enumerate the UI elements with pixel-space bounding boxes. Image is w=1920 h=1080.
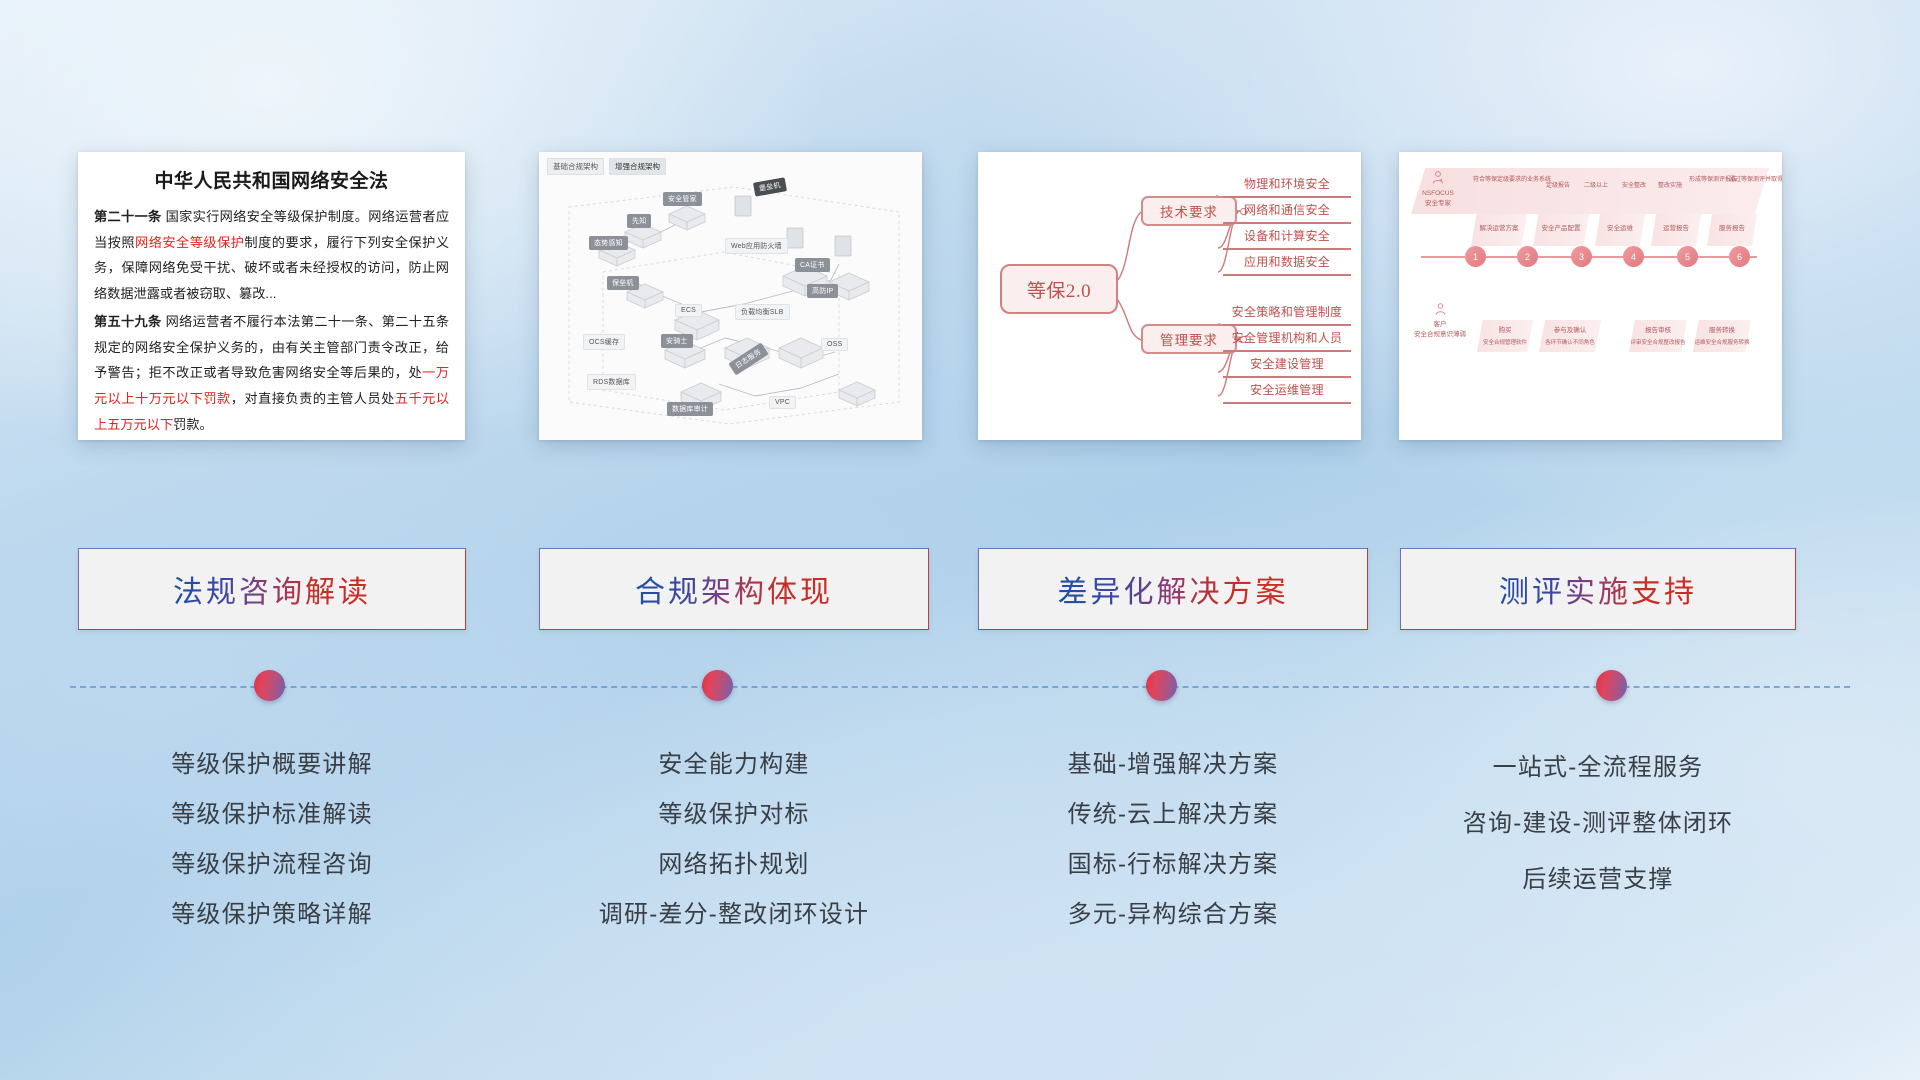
mindmap-leaf-network-comm: 网络和通信安全 <box>1223 200 1351 224</box>
phase-tag-2: 安全运维 <box>1595 224 1645 233</box>
mindmap-leaf-device-compute: 设备和计算安全 <box>1223 226 1351 250</box>
step-marker-1[interactable]: 1 <box>1465 246 1486 267</box>
ribbon-label-1: 定级报告 <box>1541 182 1575 191</box>
nsfocus-brand: NSFOCUS <box>1413 189 1463 198</box>
node-vpc: VPC <box>769 396 796 409</box>
architecture-canvas: 基础合规架构 增强合规架构 <box>539 152 922 440</box>
bottom-tag-title-3: 服务转换 <box>1693 326 1751 335</box>
mindmap-leaf-org-personnel: 安全管理机构和人员 <box>1223 328 1351 352</box>
law-article-59-label: 第五十九条 <box>94 314 162 329</box>
tab-button-regulation-consulting[interactable]: 法规咨询解读 <box>78 548 466 630</box>
timeline-dot-4[interactable] <box>1596 670 1627 701</box>
step-marker-4[interactable]: 4 <box>1623 246 1644 267</box>
mindmap-leaf-policy-system: 安全策略和管理制度 <box>1223 302 1351 326</box>
card-mindmap[interactable]: 等保2.0 技术要求 管理要求 物理和环境安全 网络和通信安全 设备和计算安全 … <box>978 152 1361 440</box>
person-star-icon <box>1430 170 1446 186</box>
ribbon-label-5: 形成等保测评报告 <box>1689 176 1733 185</box>
node-anqishi: 安骑士 <box>661 334 693 348</box>
tab-label-3: 测评实施支持 <box>1499 567 1697 611</box>
phase-tag-1: 安全产品配置 <box>1533 224 1589 233</box>
service-list-column-1: 等级保护概要讲解 等级保护标准解读 等级保护流程咨询 等级保护策略详解 <box>78 740 466 940</box>
step-marker-3[interactable]: 3 <box>1571 246 1592 267</box>
tab-button-differentiated-solution[interactable]: 差异化解决方案 <box>978 548 1368 630</box>
step-marker-6[interactable]: 6 <box>1729 246 1750 267</box>
bottom-tag-title-2: 报告审核 <box>1629 326 1687 335</box>
bottom-tag-sub-1: 各环节确认不同角色 <box>1537 340 1603 348</box>
node-oss: OSS <box>821 338 848 351</box>
law-title: 中华人民共和国网络安全法 <box>94 166 449 193</box>
ribbon-label-0: 符合等保定级要求的业务系统 <box>1473 176 1537 185</box>
timeline-row <box>0 663 1920 711</box>
mindmap-leaf-ops-mgmt: 安全运维管理 <box>1223 380 1351 404</box>
timeline-dot-2[interactable] <box>702 670 733 701</box>
law-article-21: 第二十一条 国家实行网络安全等级保护制度。网络运营者应当按照网络安全等级保护制度… <box>94 204 449 307</box>
tab-buttons-row: 法规咨询解读 合规架构体现 差异化解决方案 测评实施支持 <box>0 548 1920 630</box>
service-lists-row: 等级保护概要讲解 等级保护标准解读 等级保护流程咨询 等级保护策略详解 安全能力… <box>0 740 1920 980</box>
node-xianzhi: 先知 <box>627 214 651 228</box>
cards-row: 中华人民共和国网络安全法 第二十一条 国家实行网络安全等级保护制度。网络运营者应… <box>0 152 1920 452</box>
node-rds-database: RDS数据库 <box>587 374 636 390</box>
mindmap-canvas: 等保2.0 技术要求 管理要求 物理和环境安全 网络和通信安全 设备和计算安全 … <box>978 152 1361 440</box>
service-list-column-4: 一站式-全流程服务 咨询-建设-测评整体闭环 后续运营支撑 <box>1400 740 1796 908</box>
node-ca-certificate: CA证书 <box>795 258 830 272</box>
service-list-column-3: 基础-增强解决方案 传统-云上解决方案 国标-行标解决方案 多元-异构综合方案 <box>978 740 1368 940</box>
node-db-audit: 数据库审计 <box>667 402 713 416</box>
node-slb: 负载均衡SLB <box>735 304 790 320</box>
step-marker-5[interactable]: 5 <box>1677 246 1698 267</box>
node-waf: Web应用防火墙 <box>725 238 788 254</box>
timeline-dot-3[interactable] <box>1146 670 1177 701</box>
list-item: 等级保护策略详解 <box>78 890 466 940</box>
list-item: 等级保护对标 <box>539 790 929 840</box>
tab-button-assessment-support[interactable]: 测评实施支持 <box>1400 548 1796 630</box>
law-article-21-highlight: 网络安全等级保护 <box>135 235 244 250</box>
slide-canvas: 中华人民共和国网络安全法 第二十一条 国家实行网络安全等级保护制度。网络运营者应… <box>0 0 1920 1080</box>
phase-tag-3: 运营报告 <box>1651 224 1701 233</box>
tab-label-1: 合规架构体现 <box>635 567 833 611</box>
bottom-tag-title-1: 参与及确认 <box>1539 326 1601 335</box>
step-marker-2[interactable]: 2 <box>1517 246 1538 267</box>
law-article-59: 第五十九条 网络运营者不履行本法第二十一条、第二十五条规定的网络安全保护义务的，… <box>94 309 449 438</box>
list-item: 网络拓扑规划 <box>539 840 929 890</box>
mindmap-leaf-physical-env: 物理和环境安全 <box>1223 174 1351 198</box>
timeline-dot-1[interactable] <box>254 670 285 701</box>
tab-button-compliance-architecture[interactable]: 合规架构体现 <box>539 548 929 630</box>
service-timeline-canvas: NSFOCUS 安全专家 符合等保定级要求的业务系统 定级报告 二级以上 安全整… <box>1399 152 1782 440</box>
card-service-timeline[interactable]: NSFOCUS 安全专家 符合等保定级要求的业务系统 定级报告 二级以上 安全整… <box>1399 152 1782 440</box>
customer-badge: 客户 安全合规意识薄弱 <box>1413 302 1467 339</box>
bottom-tag-sub-3: 运维安全合规服务转换 <box>1689 340 1755 348</box>
customer-icon <box>1433 302 1448 317</box>
list-item: 调研-差分-整改闭环设计 <box>539 890 929 940</box>
bottom-tag-sub-0: 安全合规管理软件 <box>1473 340 1537 348</box>
ribbon-label-6: 通过等保测评并取得证书 <box>1729 176 1773 185</box>
node-bastion: 保垒机 <box>607 276 639 290</box>
law-article-59-text-c: 罚款。 <box>173 417 213 432</box>
nsfocus-role: 安全专家 <box>1413 199 1463 208</box>
mindmap-leaf-app-data: 应用和数据安全 <box>1223 252 1351 276</box>
law-content: 中华人民共和国网络安全法 第二十一条 国家实行网络安全等级保护制度。网络运营者应… <box>78 152 465 440</box>
list-item: 等级保护流程咨询 <box>78 840 466 890</box>
phase-tag-4: 服务报告 <box>1707 224 1757 233</box>
architecture-connectors <box>539 152 922 440</box>
list-item: 基础-增强解决方案 <box>978 740 1368 790</box>
node-ecs: ECS <box>675 304 702 317</box>
mindmap-root-node[interactable]: 等保2.0 <box>1000 264 1118 314</box>
ribbon-label-4: 整改实施 <box>1653 182 1687 191</box>
tab-label-0: 法规咨询解读 <box>173 567 371 611</box>
list-item: 等级保护概要讲解 <box>78 740 466 790</box>
list-item: 国标-行标解决方案 <box>978 840 1368 890</box>
service-ribbon <box>1411 168 1769 214</box>
law-article-21-label: 第二十一条 <box>94 209 162 224</box>
list-item: 后续运营支撑 <box>1400 852 1796 908</box>
node-anti-ddos-ip: 高防IP <box>807 284 838 298</box>
bottom-tag-title-0: 购买 <box>1477 326 1533 335</box>
list-item: 等级保护标准解读 <box>78 790 466 840</box>
tab-label-2: 差异化解决方案 <box>1058 567 1289 611</box>
ribbon-label-3: 安全整改 <box>1617 182 1651 191</box>
service-list-column-2: 安全能力构建 等级保护对标 网络拓扑规划 调研-差分-整改闭环设计 <box>539 740 929 940</box>
list-item: 传统-云上解决方案 <box>978 790 1368 840</box>
customer-label: 客户 <box>1413 320 1467 329</box>
law-article-59-text-b: ，对直接负责的主管人员处 <box>231 391 395 406</box>
card-architecture-diagram[interactable]: 基础合规架构 增强合规架构 <box>539 152 922 440</box>
list-item: 一站式-全流程服务 <box>1400 740 1796 796</box>
mindmap-leaf-construction-mgmt: 安全建设管理 <box>1223 354 1351 378</box>
nsfocus-expert-badge: NSFOCUS 安全专家 <box>1413 170 1463 208</box>
timeline-dashed-line <box>70 686 1850 688</box>
card-law-text[interactable]: 中华人民共和国网络安全法 第二十一条 国家实行网络安全等级保护制度。网络运营者应… <box>78 152 465 440</box>
customer-sub: 安全合规意识薄弱 <box>1413 330 1467 339</box>
list-item: 咨询-建设-测评整体闭环 <box>1400 796 1796 852</box>
ribbon-label-2: 二级以上 <box>1579 182 1613 191</box>
phase-tag-0: 解决运营方案 <box>1471 224 1527 233</box>
bottom-tag-sub-2: 评审安全合规整改报告 <box>1625 340 1691 348</box>
node-ocs-cache: OCS缓存 <box>583 334 625 350</box>
node-situational-awareness: 态势感知 <box>589 236 628 250</box>
list-item: 多元-异构综合方案 <box>978 890 1368 940</box>
node-security-butler: 安全管家 <box>663 192 702 206</box>
list-item: 安全能力构建 <box>539 740 929 790</box>
